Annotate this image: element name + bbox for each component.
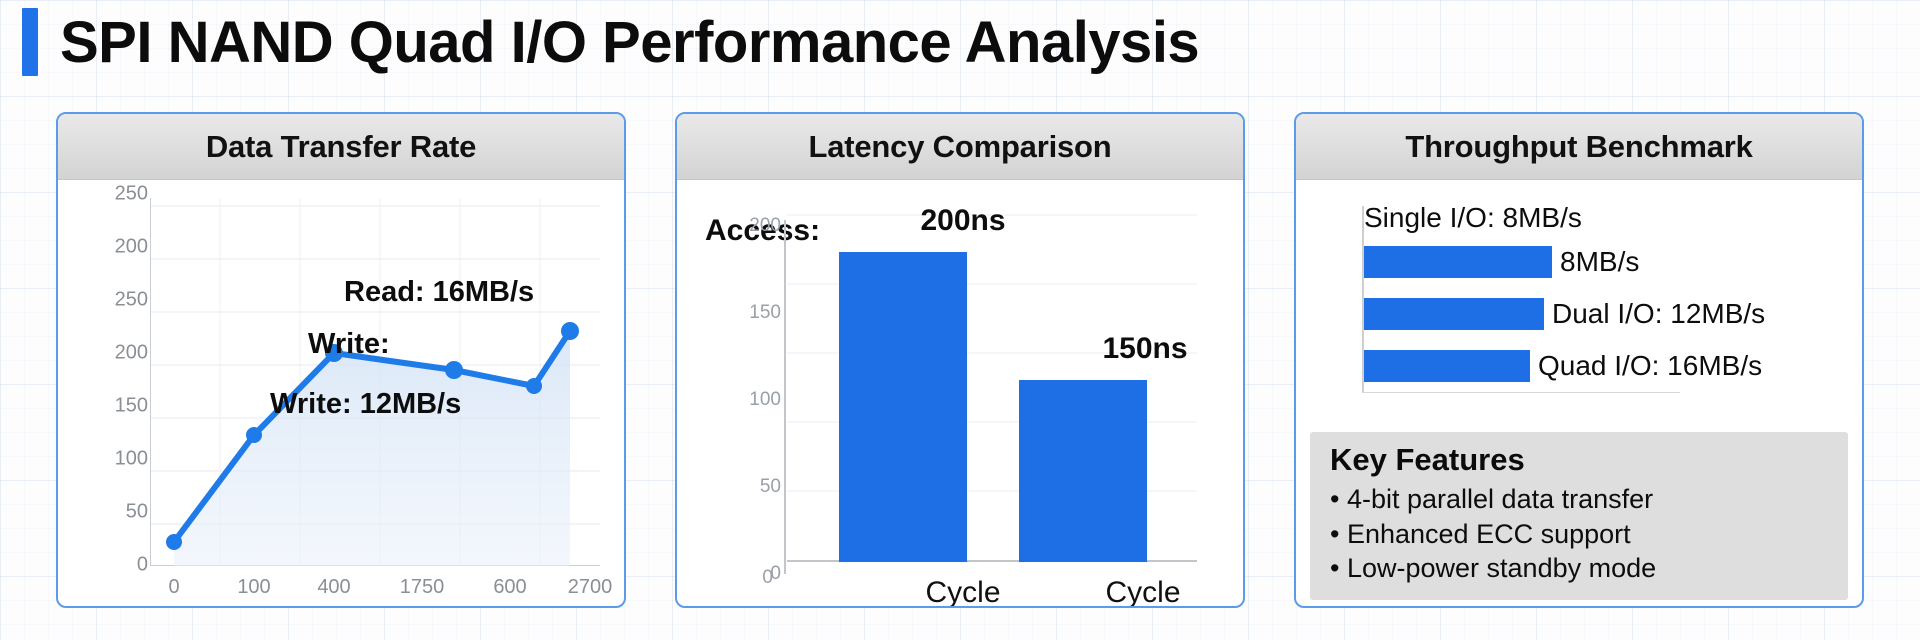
- panel-latency-comparison: Latency Comparison Access: 0 50 100 150 …: [675, 112, 1245, 608]
- legend-single-io: Single I/O: 8MB/s: [1364, 202, 1582, 234]
- panel-header-latency-comparison: Latency Comparison: [677, 114, 1243, 180]
- panel-header-throughput-benchmark: Throughput Benchmark: [1296, 114, 1862, 180]
- x-axis-line: [1362, 392, 1680, 393]
- annotation-read: Read: 16MB/s: [344, 276, 534, 309]
- panel-title-latency-comparison: Latency Comparison: [808, 129, 1111, 165]
- panel-header-data-transfer-rate: Data Transfer Rate: [58, 114, 624, 180]
- hbar-dual-io: [1364, 298, 1544, 330]
- key-features-box: Key Features 4-bit parallel data transfe…: [1310, 432, 1848, 600]
- chart-line-data-transfer-rate: 250 200 250 200 150 100 50 0: [58, 180, 624, 606]
- line-chart-svg: [150, 198, 600, 566]
- y-tick-zero: 0: [733, 567, 773, 589]
- panel-container: Data Transfer Rate 250 200 250 200 150 1…: [0, 112, 1920, 624]
- y-tick: 150: [697, 302, 781, 324]
- y-tick: 50: [697, 476, 781, 498]
- hbar-quad-io: [1364, 350, 1530, 382]
- y-tick: 250: [74, 289, 148, 312]
- chart-bar-latency-comparison: Access: 0 50 100 150 200: [677, 180, 1243, 606]
- hbar-row-dual-io: Dual I/O: 12MB/s: [1364, 298, 1824, 330]
- y-tick: 0: [74, 554, 148, 577]
- bar-value-label: 150ns: [1102, 332, 1187, 366]
- x-tick: 400: [317, 576, 350, 599]
- x-tick: 1750: [400, 576, 445, 599]
- x-tick: 0: [168, 576, 179, 599]
- hbar-label: Dual I/O: 12MB/s: [1552, 298, 1765, 330]
- x-axis-labels: 0 100 400 1750 600 2700: [150, 576, 600, 608]
- key-features-heading: Key Features: [1330, 442, 1828, 478]
- y-tick: 150: [74, 395, 148, 418]
- panel-title-data-transfer-rate: Data Transfer Rate: [206, 129, 476, 165]
- list-item: Enhanced ECC support: [1330, 517, 1828, 552]
- list-item: 4-bit parallel data transfer: [1330, 482, 1828, 517]
- bar-value-label: 200ns: [920, 204, 1005, 238]
- page-title: SPI NAND Quad I/O Performance Analysis: [60, 9, 1199, 76]
- panel-data-transfer-rate: Data Transfer Rate 250 200 250 200 150 1…: [56, 112, 626, 608]
- y-tick: 100: [697, 389, 781, 411]
- y-tick: 100: [74, 448, 148, 471]
- x-tick: 600: [493, 576, 526, 599]
- plot-area: [787, 214, 1197, 562]
- x-tick: Cycle: [925, 576, 1000, 608]
- chart-hbar-throughput: Single I/O: 8MB/s 8MB/s Dual I/O: 12MB/s…: [1296, 180, 1862, 432]
- y-tick: 250: [74, 183, 148, 206]
- panel-throughput-benchmark: Throughput Benchmark Single I/O: 8MB/s 8…: [1294, 112, 1864, 608]
- hbar-label: Quad I/O: 16MB/s: [1538, 350, 1762, 382]
- y-tick: 200: [74, 236, 148, 259]
- y-tick: 50: [74, 501, 148, 524]
- bar-cycle-1: [839, 252, 967, 562]
- title-accent-bar: [22, 8, 38, 76]
- x-tick: 100: [237, 576, 270, 599]
- list-item: Low-power standby mode: [1330, 551, 1828, 586]
- y-tick: 200: [697, 215, 781, 237]
- y-axis-labels: 0 50 100 150 200: [697, 202, 781, 574]
- hbar-single-io: [1364, 246, 1552, 278]
- x-tick: Cycle: [1105, 576, 1180, 608]
- bar-cycle-2: [1019, 380, 1147, 562]
- slide-canvas: SPI NAND Quad I/O Performance Analysis D…: [0, 0, 1920, 640]
- y-axis-labels: 250 200 250 200 150 100 50 0: [74, 186, 148, 578]
- key-features-list: 4-bit parallel data transfer Enhanced EC…: [1330, 482, 1828, 586]
- x-tick: 2700: [568, 576, 613, 599]
- panel-title-throughput-benchmark: Throughput Benchmark: [1405, 129, 1752, 165]
- page-title-row: SPI NAND Quad I/O Performance Analysis: [0, 8, 1199, 76]
- hbar-row-quad-io: Quad I/O: 16MB/s: [1364, 350, 1824, 382]
- annotation-write-top: Write:: [308, 328, 390, 361]
- hbar-label: 8MB/s: [1560, 246, 1639, 278]
- annotation-write-value: Write: 12MB/s: [270, 388, 461, 421]
- hbar-row-single-io: 8MB/s: [1364, 246, 1824, 278]
- y-tick: 200: [74, 342, 148, 365]
